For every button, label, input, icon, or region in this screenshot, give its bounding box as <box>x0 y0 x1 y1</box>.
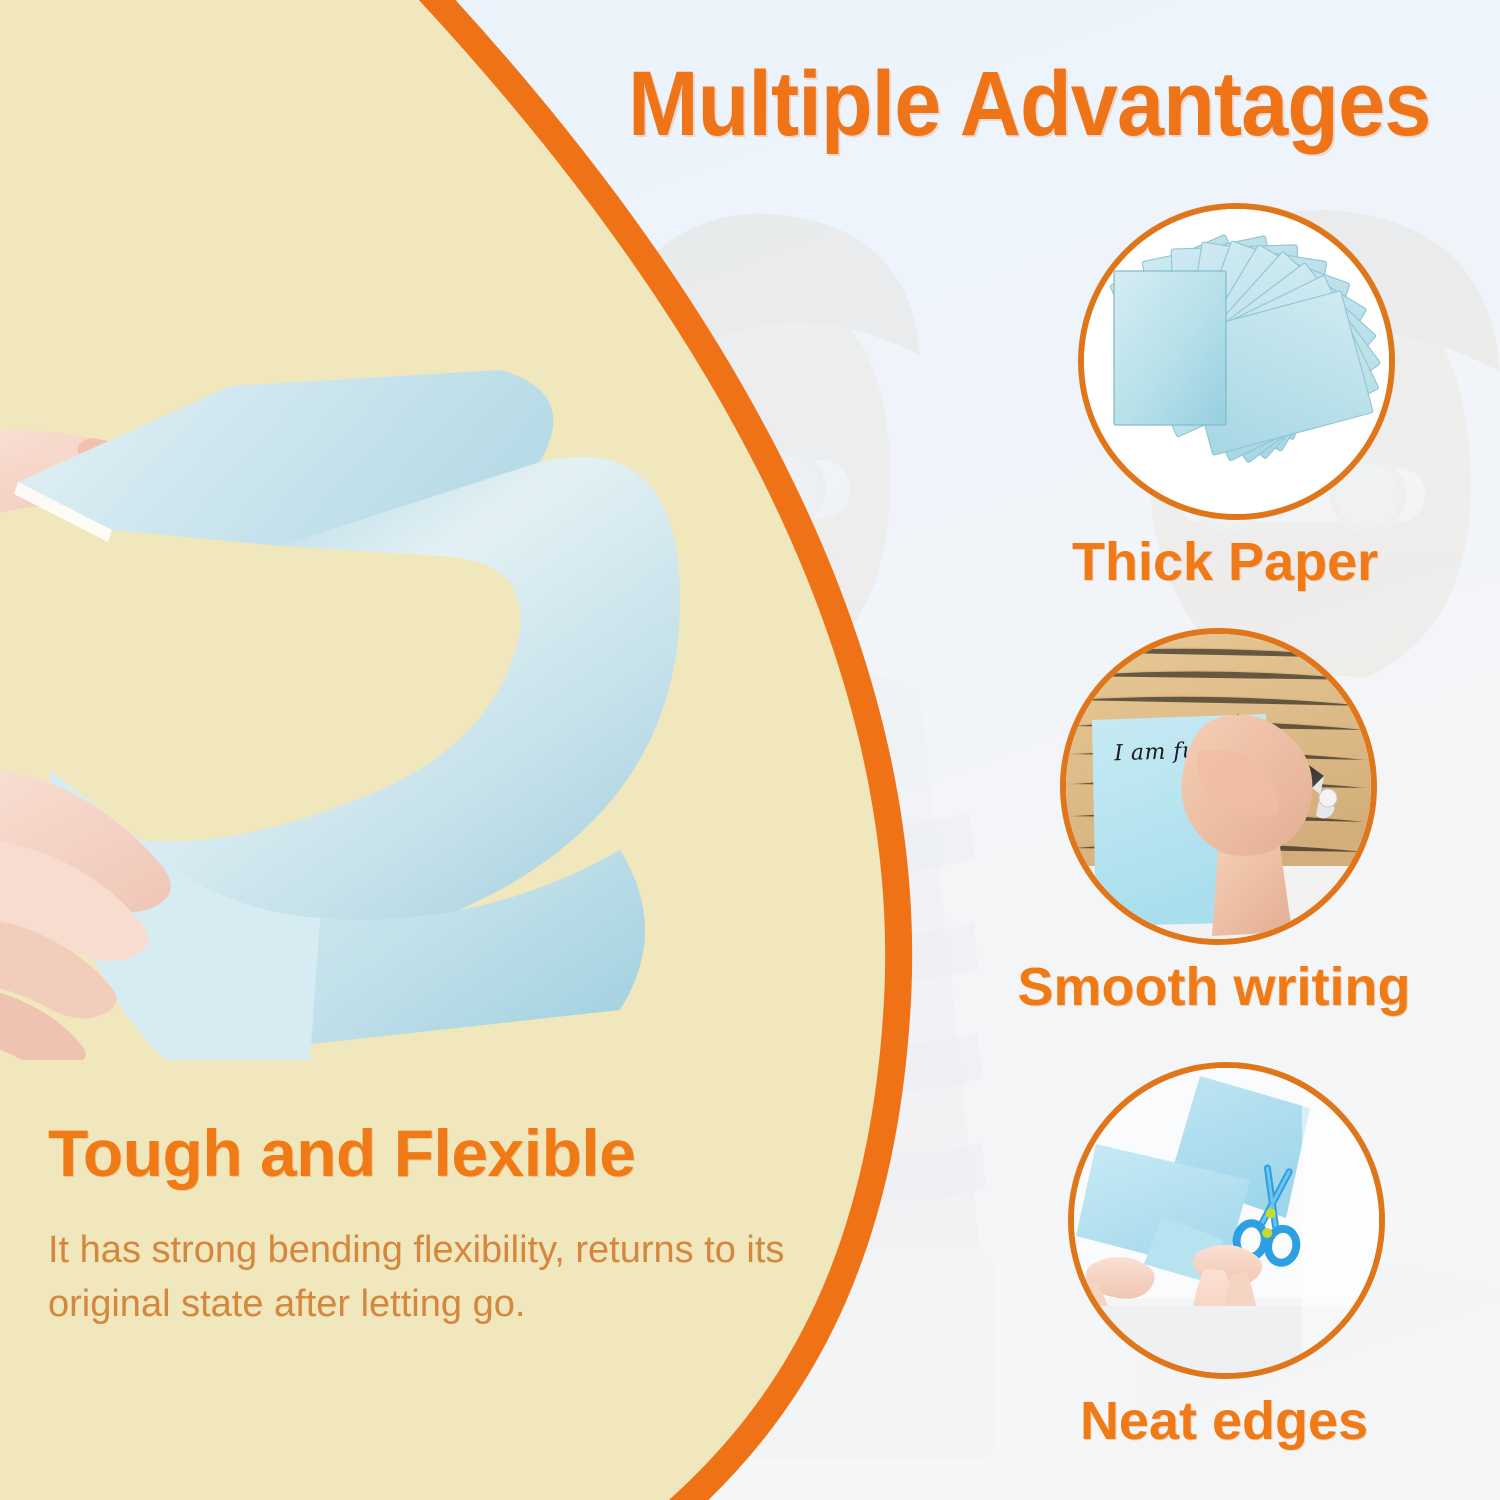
feature-neat-edges-circle <box>1068 1062 1385 1379</box>
fanned-stack-of-blue-paper-sheets-icon <box>1084 209 1389 514</box>
hands-cutting-blue-paper-with-scissors-icon <box>1074 1068 1379 1373</box>
feature-neat-edges-label: Neat edges <box>1034 1393 1414 1450</box>
feature-smooth-writing-label: Smooth writing <box>1004 959 1424 1016</box>
left-feature-block: Tough and Flexible It has strong bending… <box>48 1120 788 1332</box>
feature-thick-paper: Thick Paper <box>1078 203 1395 591</box>
hand-writing-with-pen-on-blue-paper-icon: I am fun, and <box>1066 634 1371 939</box>
feature-neat-edges: Neat edges <box>1068 1062 1414 1450</box>
page-title: Multiple Advantages <box>628 58 1419 150</box>
hands-bending-blue-paper-sheet-image <box>0 370 700 1060</box>
feature-thick-paper-circle <box>1078 203 1395 520</box>
left-feature-title: Tough and Flexible <box>48 1120 788 1186</box>
feature-smooth-writing-circle: I am fun, and <box>1060 628 1377 945</box>
feature-smooth-writing: I am fun, and Smooth writing <box>1060 628 1424 1016</box>
feature-thick-paper-label: Thick Paper <box>1072 534 1377 591</box>
left-feature-description: It has strong bending flexibility, retur… <box>48 1224 788 1332</box>
advertising-poster: Multiple Advantages Tough and Flexible I… <box>0 0 1500 1500</box>
